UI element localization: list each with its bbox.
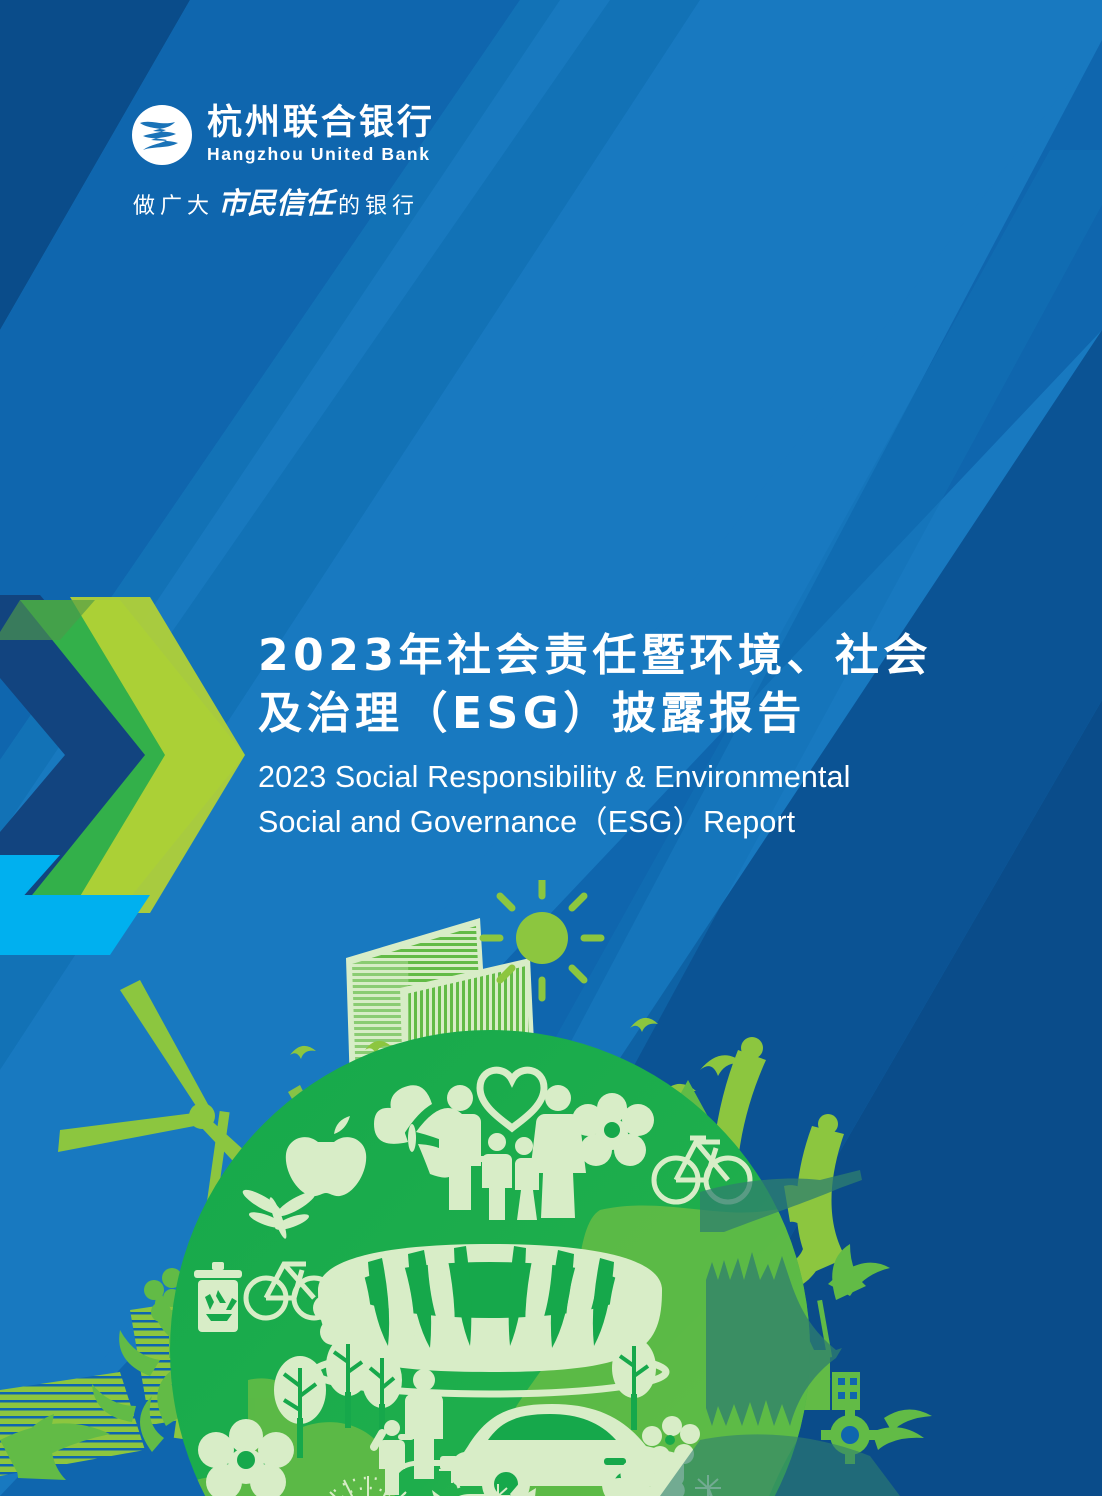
tagline-emphasis: 市民信任 — [218, 180, 334, 222]
logo-row: 杭州联合银行 Hangzhou United Bank — [131, 104, 551, 166]
logo-name-cn: 杭州联合银行 — [207, 105, 435, 141]
logo-wordmark: 杭州联合银行 Hangzhou United Bank — [207, 105, 435, 165]
report-title-en: 2023 Social Responsibility & Environment… — [258, 755, 1018, 845]
logo-name-en: Hangzhou United Bank — [207, 144, 435, 165]
brand-logo-block: 杭州联合银行 Hangzhou United Bank 做广大 市民信任 的银行 — [131, 104, 551, 222]
brand-tagline: 做广大 市民信任 的银行 — [133, 180, 551, 222]
sun-icon — [483, 880, 601, 998]
report-title-cn: 2023年社会责任暨环境、社会 及治理（ESG）披露报告 — [258, 627, 1018, 743]
report-title-cn-line2: 及治理（ESG）披露报告 — [258, 685, 1018, 743]
report-title-cn-line1: 2023年社会责任暨环境、社会 — [258, 627, 1018, 685]
eco-globe-illustration — [0, 880, 1102, 1496]
tagline-prefix: 做广大 — [133, 188, 214, 220]
report-title-block: 2023年社会责任暨环境、社会 及治理（ESG）披露报告 2023 Social… — [258, 627, 1018, 845]
tagline-suffix: 的银行 — [338, 188, 419, 220]
hangzhou-united-bank-logo-icon — [131, 104, 193, 166]
report-title-en-line2: Social and Governance（ESG）Report — [258, 800, 1018, 845]
report-title-en-line1: 2023 Social Responsibility & Environment… — [258, 755, 1018, 800]
report-cover-page: 杭州联合银行 Hangzhou United Bank 做广大 市民信任 的银行… — [0, 0, 1102, 1496]
recycling-bin-icon — [194, 1262, 242, 1332]
